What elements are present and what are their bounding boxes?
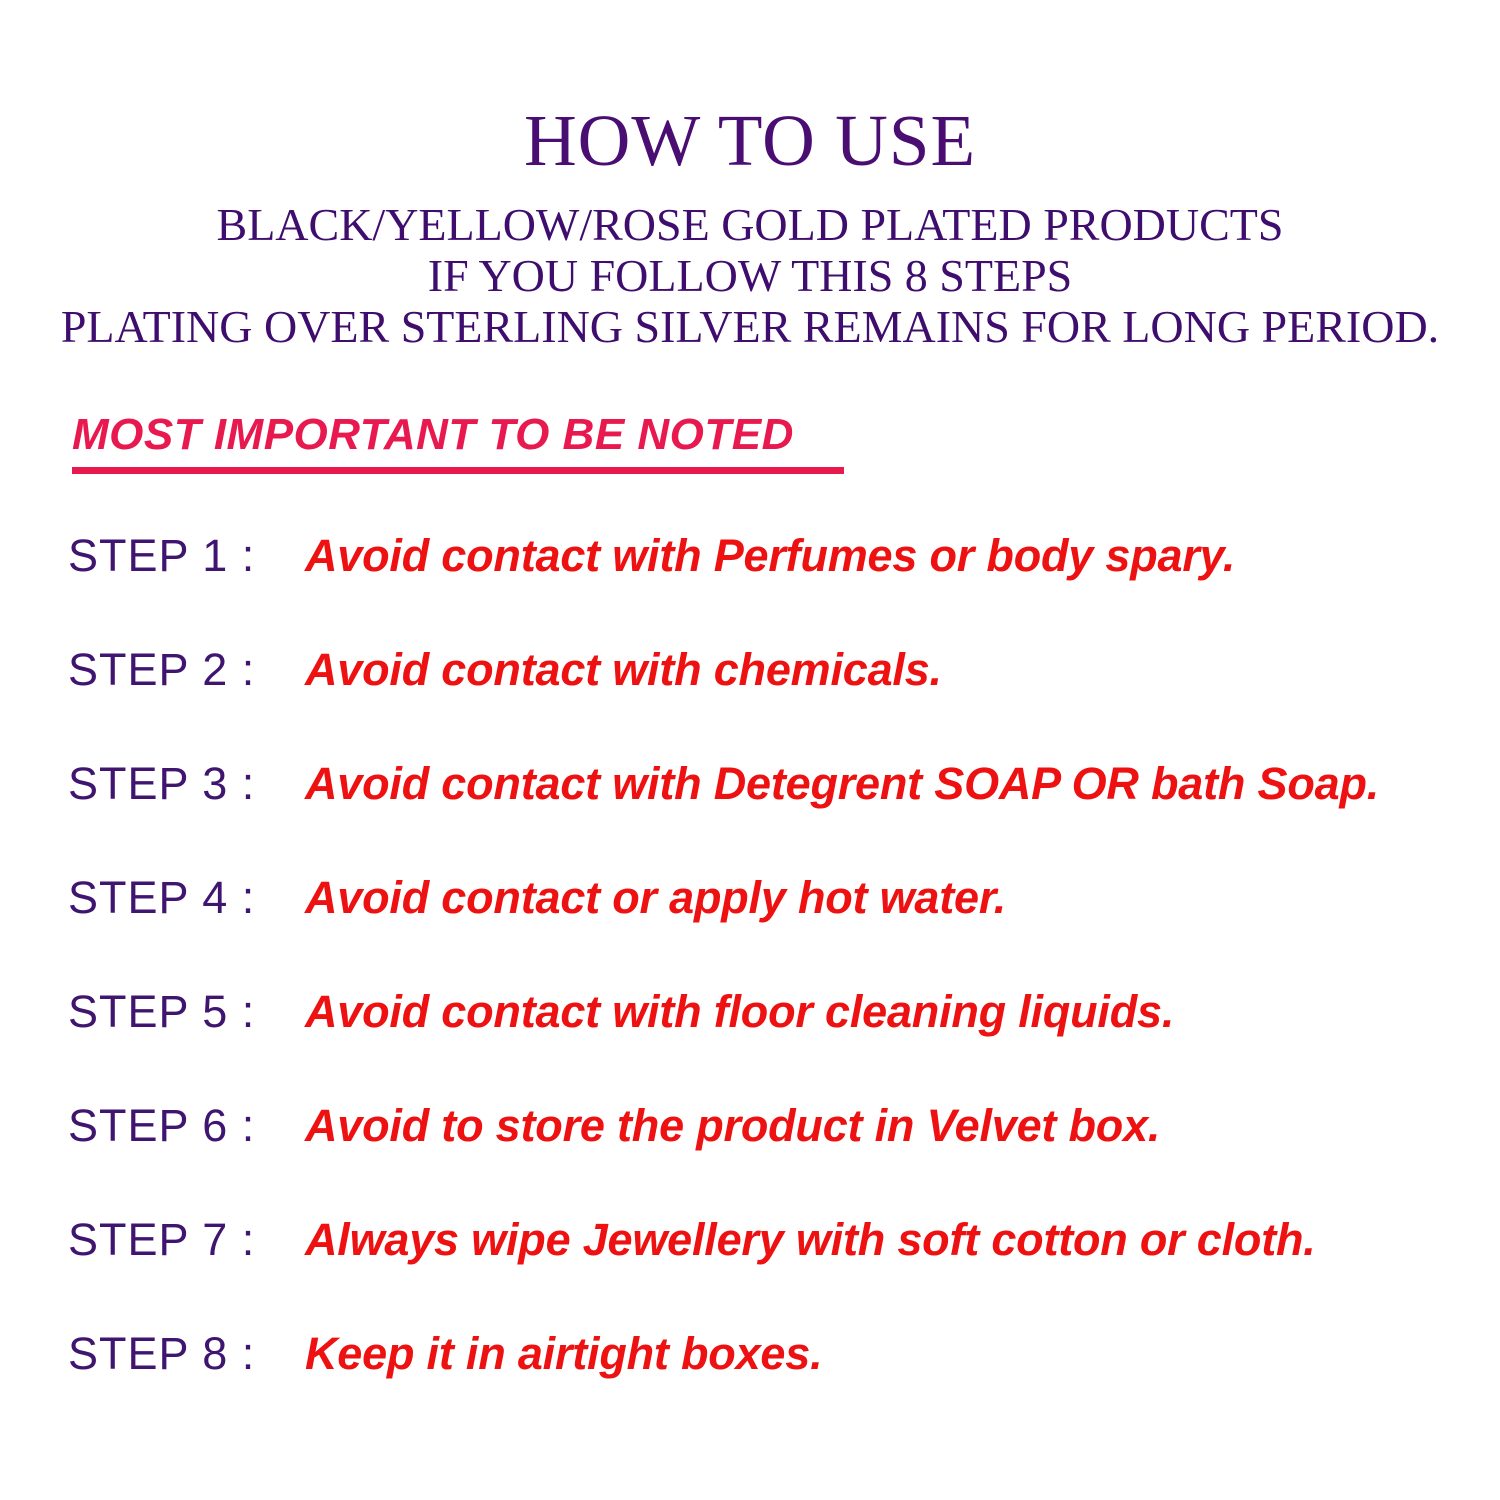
subtitle-line-3: PLATING OVER STERLING SILVER REMAINS FOR… xyxy=(0,301,1500,352)
subtitle-line-2: IF YOU FOLLOW THIS 8 STEPS xyxy=(0,250,1500,301)
step-row-4: STEP 4 : Avoid contact or apply hot wate… xyxy=(68,870,1006,930)
step-label-3: STEP 3 : xyxy=(68,756,305,811)
step-label-5: STEP 5 : xyxy=(68,984,305,1039)
step-text-3: Avoid contact with Detegrent SOAP OR bat… xyxy=(305,756,1379,811)
step-label-8: STEP 8 : xyxy=(68,1326,305,1381)
step-row-7: STEP 7 : Always wipe Jewellery with soft… xyxy=(68,1212,1316,1272)
step-row-6: STEP 6 : Avoid to store the product in V… xyxy=(68,1098,1160,1158)
step-text-7: Always wipe Jewellery with soft cotton o… xyxy=(305,1212,1316,1267)
step-text-1: Avoid contact with Perfumes or body spar… xyxy=(305,528,1235,583)
step-text-2: Avoid contact with chemicals. xyxy=(305,642,942,697)
step-row-8: STEP 8 : Keep it in airtight boxes. xyxy=(68,1326,822,1386)
notice-heading: MOST IMPORTANT TO BE NOTED xyxy=(72,411,794,465)
how-to-use-infographic: HOW TO USE BLACK/YELLOW/ROSE GOLD PLATED… xyxy=(0,0,1500,1500)
subtitle-block: BLACK/YELLOW/ROSE GOLD PLATED PRODUCTS I… xyxy=(0,177,1500,352)
header-block: HOW TO USE BLACK/YELLOW/ROSE GOLD PLATED… xyxy=(0,0,1500,352)
step-label-6: STEP 6 : xyxy=(68,1098,305,1153)
step-row-5: STEP 5 : Avoid contact with floor cleani… xyxy=(68,984,1174,1044)
notice-underline xyxy=(72,467,844,474)
subtitle-line-1: BLACK/YELLOW/ROSE GOLD PLATED PRODUCTS xyxy=(0,199,1500,250)
step-row-2: STEP 2 : Avoid contact with chemicals. xyxy=(68,642,942,702)
step-row-3: STEP 3 : Avoid contact with Detegrent SO… xyxy=(68,756,1379,816)
step-text-8: Keep it in airtight boxes. xyxy=(305,1326,822,1381)
step-label-2: STEP 2 : xyxy=(68,642,305,697)
step-text-4: Avoid contact or apply hot water. xyxy=(305,870,1006,925)
step-row-1: STEP 1 : Avoid contact with Perfumes or … xyxy=(68,528,1235,588)
step-label-4: STEP 4 : xyxy=(68,870,305,925)
step-text-6: Avoid to store the product in Velvet box… xyxy=(305,1098,1160,1153)
step-text-5: Avoid contact with floor cleaning liquid… xyxy=(305,984,1174,1039)
step-label-7: STEP 7 : xyxy=(68,1212,305,1267)
page-title: HOW TO USE xyxy=(0,0,1500,177)
notice-heading-block: MOST IMPORTANT TO BE NOTED xyxy=(72,411,844,474)
step-label-1: STEP 1 : xyxy=(68,528,305,583)
